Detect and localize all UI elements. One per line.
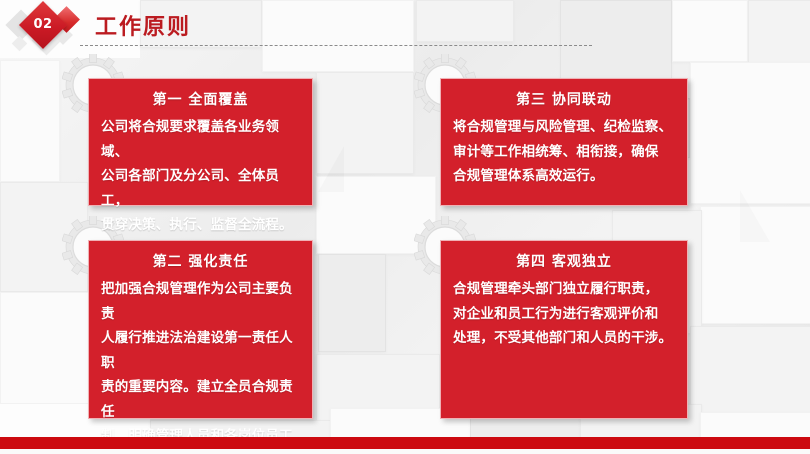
principle-card-4[interactable]: 第四 客观独立 合规管理牵头部门独立履行职责， 对企业和员工行为进行客观评价和 … <box>440 240 688 419</box>
principle-card-title: 第一 全面覆盖 <box>89 89 312 109</box>
section-number: 02 <box>26 8 60 42</box>
slide-canvas: 02 工作原则 <box>0 0 810 454</box>
principle-card-title: 第四 客观独立 <box>441 251 687 271</box>
decor-diamond-4 <box>12 36 28 52</box>
principle-card-body: 合规管理牵头部门独立履行职责， 对企业和员工行为进行客观评价和 处理，不受其他部… <box>441 277 687 359</box>
principle-card-2[interactable]: 第二 强化责任 把加强合规管理作为公司主要负责 人履行推进法治建设第一责任人职 … <box>88 240 313 419</box>
header-dashed-divider <box>80 45 592 46</box>
page-title: 工作原则 <box>95 9 191 41</box>
section-badge: 02 <box>8 2 88 54</box>
section-number-diamond: 02 <box>19 1 67 49</box>
footer-accent-bar <box>0 437 810 449</box>
principle-card-body: 把加强合规管理作为公司主要负责 人履行推进法治建设第一责任人职 责的重要内容。建… <box>89 277 312 454</box>
principle-card-title: 第三 协同联动 <box>441 89 687 109</box>
principle-card-body: 公司将合规要求覆盖各业务领域、 公司各部门及分公司、全体员工， 贯穿决策、执行、… <box>89 115 312 246</box>
principle-card-1[interactable]: 第一 全面覆盖 公司将合规要求覆盖各业务领域、 公司各部门及分公司、全体员工， … <box>88 78 313 206</box>
footer-white-strip <box>0 449 810 454</box>
principle-card-3[interactable]: 第三 协同联动 将合规管理与风险管理、纪检监察、 审计等工作相统筹、相衔接，确保… <box>440 78 688 206</box>
principle-card-title: 第二 强化责任 <box>89 251 312 271</box>
slide-header: 02 工作原则 <box>0 0 810 55</box>
principle-card-body: 将合规管理与风险管理、纪检监察、 审计等工作相统筹、相衔接，确保 合规管理体系高… <box>441 115 687 197</box>
